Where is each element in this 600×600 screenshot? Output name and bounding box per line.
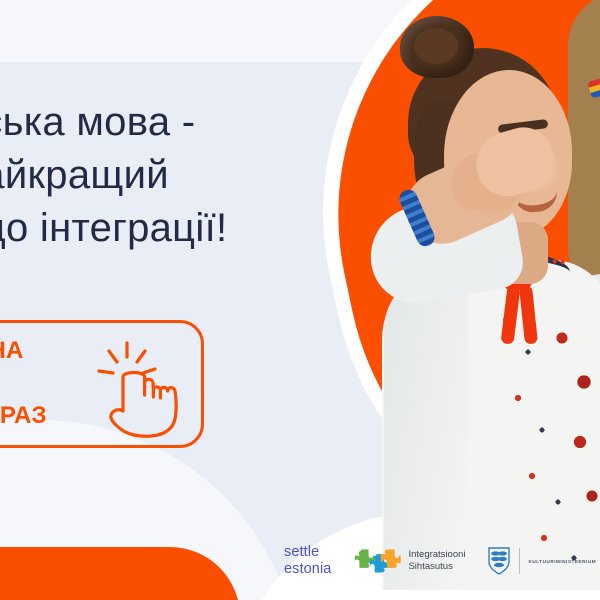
logo-divider xyxy=(519,548,520,574)
cta-button[interactable]: …ися на …овні …ке зараз xyxy=(0,320,204,448)
puzzle-pieces-icon xyxy=(353,548,401,574)
settle-logo-line-2: estonia xyxy=(284,561,331,578)
bottom-left-orange-blob xyxy=(0,547,240,600)
cta-line-1: …ися на xyxy=(0,335,47,367)
integratsiooni-logo-text: Integratsiooni Sihtasutus xyxy=(408,549,465,574)
pointing-hand-click-icon xyxy=(89,337,193,441)
settle-estonia-logo[interactable]: settle estonia xyxy=(284,544,331,578)
estonia-coat-of-arms-icon xyxy=(488,547,510,575)
promo-banner: …ська мова - …айкращий …до інтеграції! …… xyxy=(0,0,600,600)
headline-line-3: …до інтеграції! xyxy=(0,202,372,255)
integratsiooni-line-2: Sihtasutus xyxy=(408,561,465,573)
headline-line-2: …айкращий xyxy=(0,149,372,202)
integratsiooni-sihtasutus-logo[interactable]: Integratsiooni Sihtasutus xyxy=(353,548,465,574)
page-title: …ська мова - …айкращий …до інтеграції! xyxy=(0,96,372,256)
footer-logo-bar: settle estonia Integratsiooni Sihtasutus xyxy=(284,538,600,584)
settle-logo-line-1: settle xyxy=(284,544,331,561)
cta-line-2: …овні xyxy=(0,368,47,400)
cta-label: …ися на …овні …ке зараз xyxy=(0,335,47,432)
kultuuriministeerium-label: KULTUURIMINISTEERIUM xyxy=(529,559,597,564)
cta-line-3: …ке зараз xyxy=(0,400,47,432)
kultuuriministeerium-logo[interactable]: KULTUURIMINISTEERIUM xyxy=(488,547,597,575)
integratsiooni-line-1: Integratsiooni xyxy=(408,549,465,561)
headline-line-1: …ська мова - xyxy=(0,96,372,149)
